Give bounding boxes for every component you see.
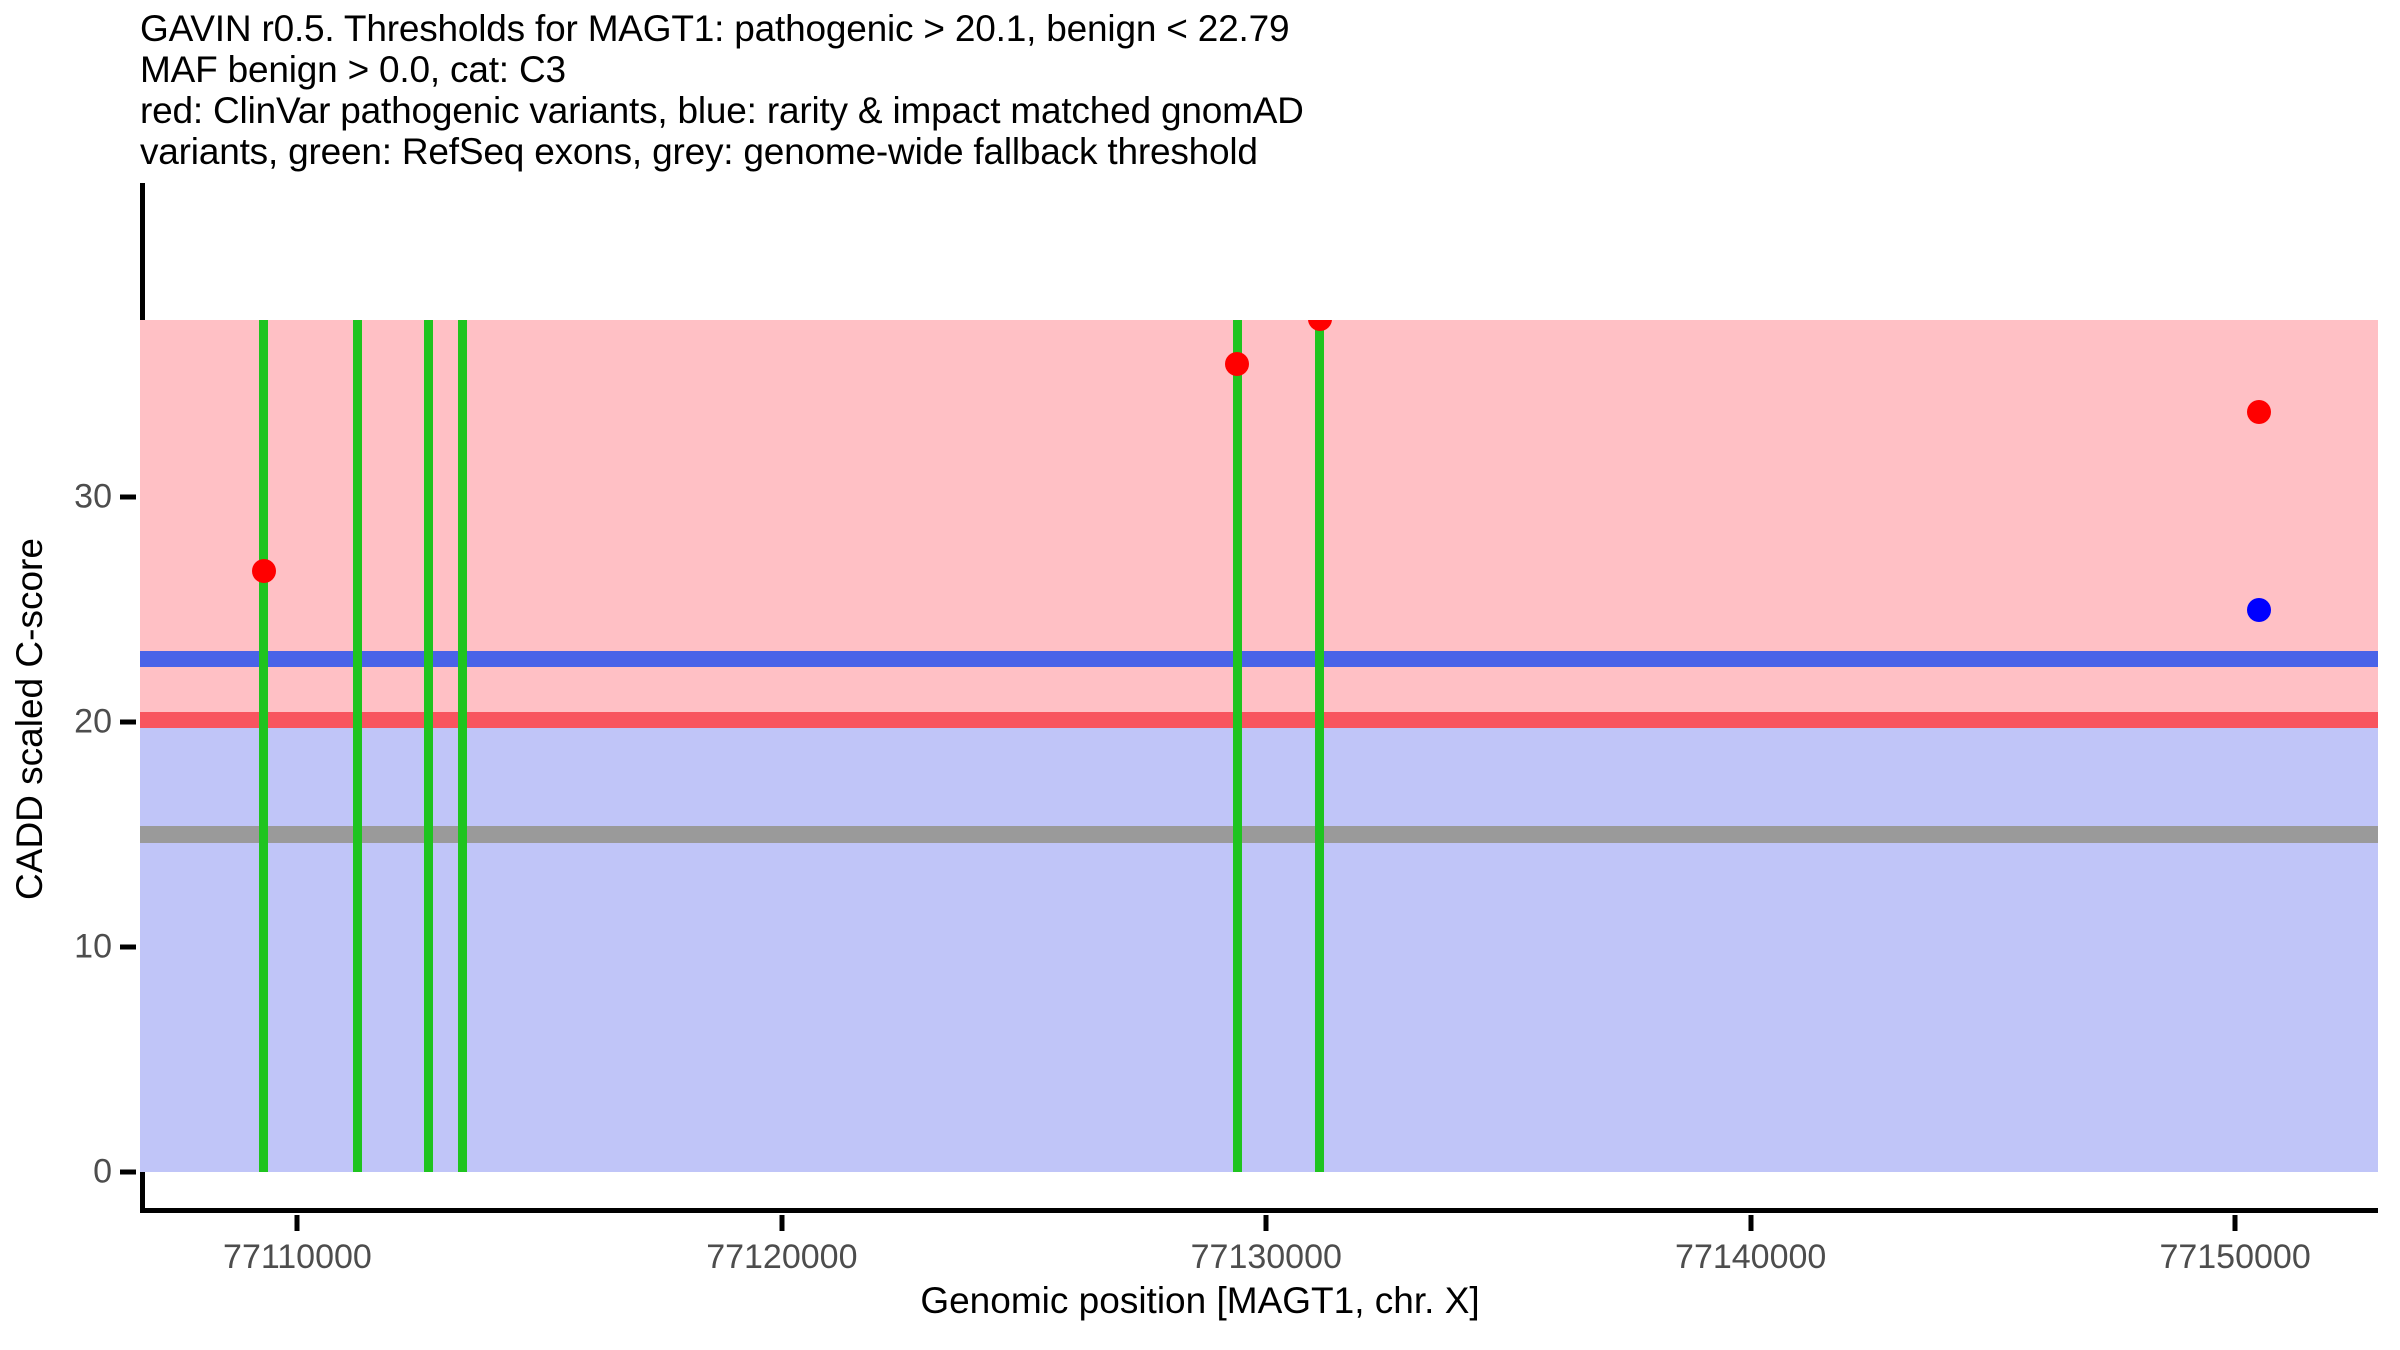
exon-line bbox=[1233, 320, 1242, 1172]
x-tick-mark bbox=[779, 1215, 784, 1231]
exon-line bbox=[424, 320, 433, 1172]
x-tick-mark bbox=[1748, 1215, 1753, 1231]
x-tick-label: 77130000 bbox=[1191, 1238, 1342, 1277]
plot-panel bbox=[140, 183, 2378, 1213]
exon-line bbox=[1315, 320, 1324, 1172]
x-tick-label: 77150000 bbox=[2159, 1238, 2310, 1277]
x-tick-label: 77110000 bbox=[223, 1238, 372, 1277]
gnomad-variant-point bbox=[2247, 598, 2271, 622]
pathogenic-threshold-line bbox=[140, 712, 2378, 728]
clinvar-variant-point bbox=[252, 559, 276, 583]
benign-threshold-line bbox=[140, 651, 2378, 667]
plot-data-area bbox=[140, 320, 2378, 1172]
fallback-threshold-line bbox=[140, 826, 2378, 842]
x-tick-mark bbox=[1264, 1215, 1269, 1231]
x-axis-title: Genomic position [MAGT1, chr. X] bbox=[0, 1280, 2400, 1322]
benign-region-fill bbox=[140, 659, 2378, 1172]
x-tick-label: 77140000 bbox=[1675, 1238, 1826, 1277]
x-tick-label: 77120000 bbox=[706, 1238, 857, 1277]
chart-root: GAVIN r0.5. Thresholds for MAGT1: pathog… bbox=[0, 0, 2400, 1350]
exon-line bbox=[353, 320, 362, 1172]
exon-line bbox=[458, 320, 467, 1172]
x-tick-mark bbox=[295, 1215, 300, 1231]
clinvar-variant-point bbox=[2247, 400, 2271, 424]
x-tick-mark bbox=[2233, 1215, 2238, 1231]
exon-line bbox=[259, 320, 268, 1172]
